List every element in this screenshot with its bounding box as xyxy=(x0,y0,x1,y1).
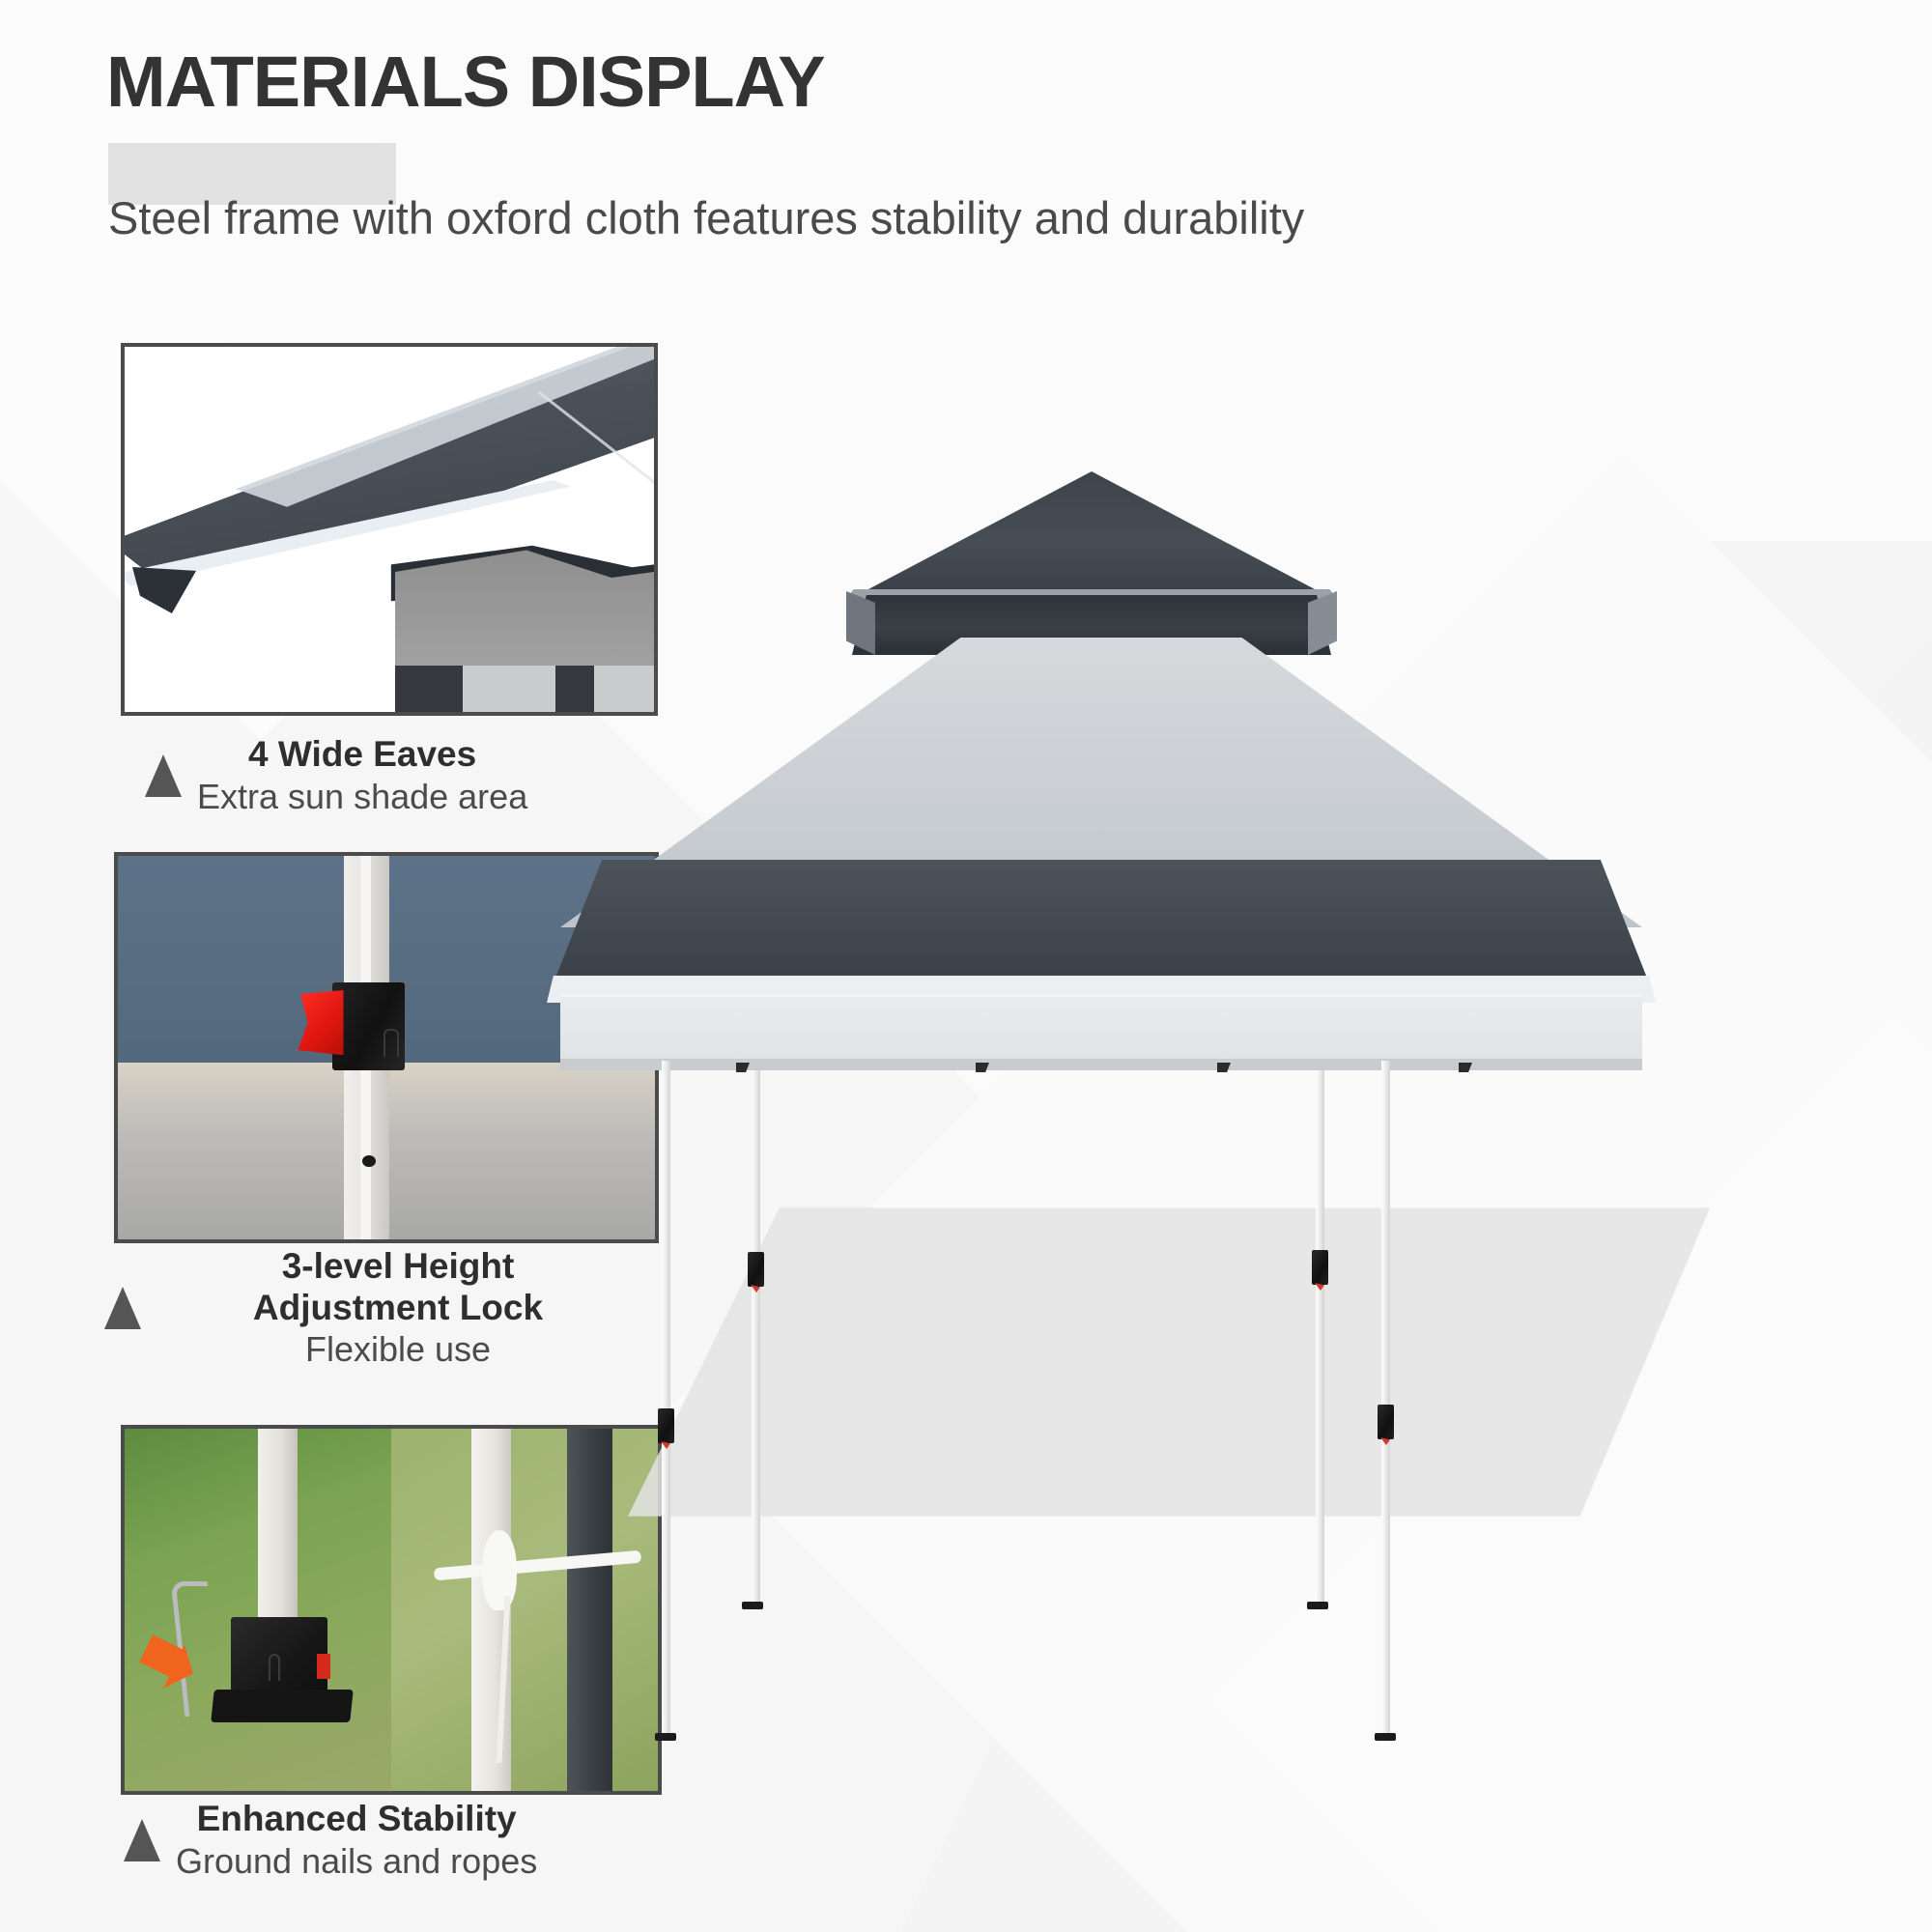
gazebo-foot xyxy=(1375,1733,1396,1741)
height-lock-collar xyxy=(748,1252,764,1287)
canopy-roof-dark-band xyxy=(553,860,1650,985)
height-lock-collar xyxy=(1378,1405,1394,1439)
canopy-valance-shadow xyxy=(560,1059,1642,1070)
triangle-up-icon xyxy=(124,1819,160,1861)
gazebo-leg-back-left xyxy=(752,1047,760,1607)
gazebo-leg-front-left xyxy=(662,1061,670,1737)
feature-subtitle: Ground nails and ropes xyxy=(176,1840,537,1882)
height-lock-collar xyxy=(658,1408,674,1443)
valance-clip xyxy=(736,1063,750,1072)
canopy-eave-tip xyxy=(132,567,196,613)
caption-text-group: Enhanced Stability Ground nails and rope… xyxy=(176,1799,537,1882)
gazebo-pole-dark xyxy=(567,1429,612,1791)
feature-title: Enhanced Stability xyxy=(176,1799,537,1840)
page-title: MATERIALS DISPLAY xyxy=(106,46,825,118)
gazebo-foot xyxy=(655,1733,676,1741)
page-subtitle: Steel frame with oxford cloth features s… xyxy=(108,193,1304,243)
feature-title: 3-level Height Adjustment Lock xyxy=(156,1246,639,1328)
feature-photo-enhanced-stability xyxy=(121,1425,662,1795)
gazebo-leg-front-right xyxy=(1381,1061,1390,1737)
valance-clip xyxy=(1217,1063,1231,1072)
canopy-valance xyxy=(560,995,1642,1065)
caption-text-group: 4 Wide Eaves Extra sun shade area xyxy=(197,734,527,817)
canopy-panel-gap xyxy=(463,666,555,716)
feature-subtitle: Extra sun shade area xyxy=(197,776,527,817)
gazebo-foot xyxy=(742,1602,763,1609)
height-lock-collar xyxy=(1312,1250,1328,1285)
feature-caption-height-lock: 3-level Height Adjustment Lock Flexible … xyxy=(104,1246,665,1370)
triangle-up-icon xyxy=(104,1287,141,1329)
canopy-panel-gap xyxy=(594,666,658,716)
triangle-up-icon xyxy=(145,754,182,797)
valance-clip xyxy=(976,1063,989,1072)
gazebo-foot xyxy=(1307,1602,1328,1609)
height-lock-housing xyxy=(332,982,405,1070)
product-render-gazebo xyxy=(667,541,1884,1700)
lock-slot-icon xyxy=(384,1029,399,1058)
feature-caption-wide-eaves: 4 Wide Eaves Extra sun shade area xyxy=(145,734,647,817)
feature-photo-wide-eaves xyxy=(121,343,658,716)
rope-tie-photo xyxy=(391,1429,658,1791)
gazebo-leg-back-right xyxy=(1316,1047,1324,1607)
valance-clip xyxy=(1459,1063,1472,1072)
feature-subtitle: Flexible use xyxy=(156,1328,639,1370)
lock-slot-icon xyxy=(269,1654,280,1681)
ground-shadow xyxy=(628,1159,1710,1565)
feature-title: 4 Wide Eaves xyxy=(197,734,527,776)
feature-caption-enhanced-stability: Enhanced Stability Ground nails and rope… xyxy=(124,1799,665,1882)
ground-stake-photo xyxy=(125,1429,391,1791)
rope-knot xyxy=(482,1530,517,1610)
red-release-lever xyxy=(317,1654,330,1679)
eave-photo-content xyxy=(125,347,654,712)
pole-base-plate xyxy=(211,1690,353,1722)
caption-text-group: 3-level Height Adjustment Lock Flexible … xyxy=(156,1246,639,1370)
